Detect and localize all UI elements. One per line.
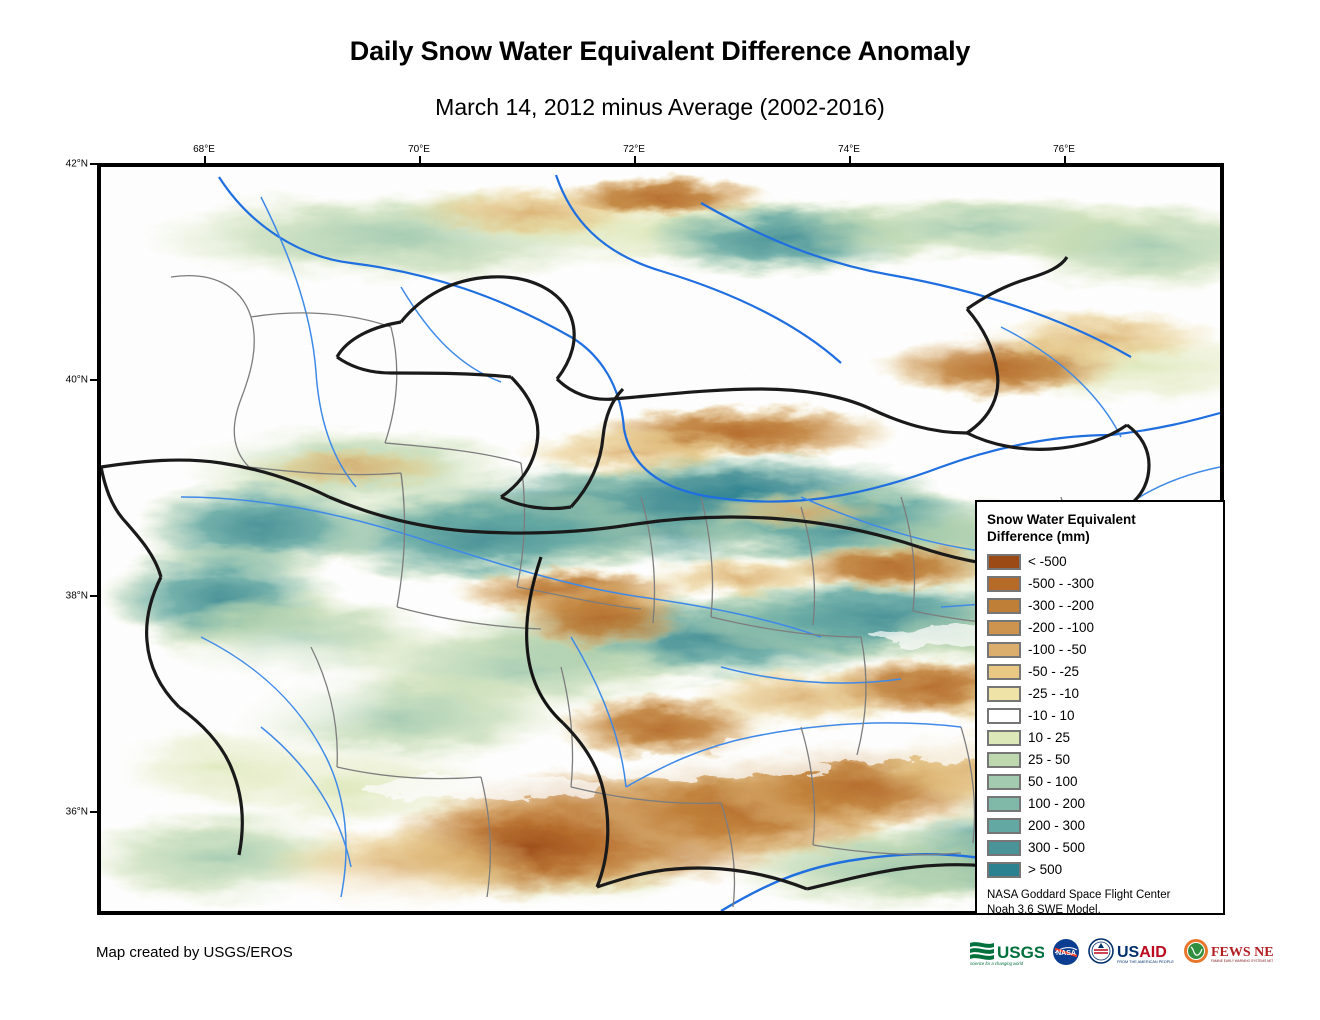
svg-text:FEWS NET: FEWS NET [1211,945,1273,960]
svg-text:USGS: USGS [997,943,1044,962]
lat-tick-38n [90,595,99,597]
legend-swatch [987,642,1021,658]
legend-label: 25 - 50 [1028,752,1070,767]
legend-class-row: -10 - 10 [987,705,1213,727]
legend-class-row: -300 - -200 [987,595,1213,617]
lon-tick-76e [1064,156,1066,165]
legend-class-row: 50 - 100 [987,771,1213,793]
svg-text:NASA: NASA [1056,950,1076,957]
legend-swatch [987,840,1021,856]
nasa-logo: NASA [1051,936,1081,968]
lon-tick-74e [849,156,851,165]
fewsnet-logo: FEWS NET FAMINE EARLY WARNING SYSTEMS NE… [1183,936,1273,968]
legend-swatch [987,730,1021,746]
legend-class-row: 25 - 50 [987,749,1213,771]
usaid-logo: USAID FROM THE AMERICAN PEOPLE [1088,936,1176,968]
legend-class-row: 10 - 25 [987,727,1213,749]
legend-swatch [987,686,1021,702]
legend-attribution: NASA Goddard Space Flight Center Noah 3.… [987,888,1213,919]
legend-swatch [987,862,1021,878]
legend-label: 200 - 300 [1028,818,1085,833]
legend-label: -10 - 10 [1028,708,1075,723]
svg-text:USAID: USAID [1117,944,1167,961]
svg-text:FROM THE AMERICAN PEOPLE: FROM THE AMERICAN PEOPLE [1117,960,1174,964]
legend-label: -100 - -50 [1028,642,1087,657]
legend-swatch [987,708,1021,724]
legend-label: 50 - 100 [1028,774,1078,789]
legend-class-row: -25 - -10 [987,683,1213,705]
legend-label: -200 - -100 [1028,620,1094,635]
legend-label: -500 - -300 [1028,576,1094,591]
legend-swatch [987,620,1021,636]
logo-strip: USGS science for a changing world NASA U… [968,932,1236,972]
legend-title: Snow Water Equivalent Difference (mm) [987,511,1213,546]
legend-class-row: 200 - 300 [987,815,1213,837]
legend-class-list: < -500-500 - -300-300 - -200-200 - -100-… [987,551,1213,881]
legend-swatch [987,598,1021,614]
lat-label-36n: 36°N [58,807,88,818]
lat-label-38n: 38°N [58,591,88,602]
legend-class-row: -50 - -25 [987,661,1213,683]
legend-label: -50 - -25 [1028,664,1079,679]
svg-text:science for a changing world: science for a changing world [970,961,1024,966]
legend-label: 100 - 200 [1028,796,1085,811]
map-credit: Map created by USGS/EROS [96,944,293,961]
lon-tick-70e [419,156,421,165]
lat-label-40n: 40°N [58,375,88,386]
svg-text:FAMINE EARLY WARNING SYSTEMS N: FAMINE EARLY WARNING SYSTEMS NETWORK [1211,959,1273,963]
legend-note-line2: Noah 3.6 SWE Model. [987,903,1213,919]
legend-label: 10 - 25 [1028,730,1070,745]
lon-label-72e: 72°E [623,144,645,155]
legend-swatch [987,576,1021,592]
lon-tick-68e [204,156,206,165]
legend-title-line2: Difference (mm) [987,529,1090,544]
legend-label: > 500 [1028,862,1062,877]
legend-label: -25 - -10 [1028,686,1079,701]
lon-label-76e: 76°E [1053,144,1075,155]
legend-class-row: -500 - -300 [987,573,1213,595]
lon-label-68e: 68°E [193,144,215,155]
page-subtitle: March 14, 2012 minus Average (2002-2016) [0,94,1320,121]
lon-label-74e: 74°E [838,144,860,155]
legend-swatch [987,774,1021,790]
map-legend: Snow Water Equivalent Difference (mm) < … [975,500,1225,915]
page-title: Daily Snow Water Equivalent Difference A… [0,36,1320,67]
legend-swatch [987,796,1021,812]
legend-class-row: > 500 [987,859,1213,881]
legend-swatch [987,752,1021,768]
lon-label-70e: 70°E [408,144,430,155]
legend-swatch [987,554,1021,570]
usgs-logo: USGS science for a changing world [968,936,1044,968]
legend-title-line1: Snow Water Equivalent [987,512,1136,527]
legend-class-row: -200 - -100 [987,617,1213,639]
legend-label: < -500 [1028,554,1067,569]
legend-label: -300 - -200 [1028,598,1094,613]
lat-tick-40n [90,379,99,381]
legend-label: 300 - 500 [1028,840,1085,855]
legend-class-row: < -500 [987,551,1213,573]
legend-class-row: 100 - 200 [987,793,1213,815]
lat-tick-42n [90,163,99,165]
legend-note-line1: NASA Goddard Space Flight Center [987,888,1213,904]
lon-tick-72e [634,156,636,165]
legend-class-row: 300 - 500 [987,837,1213,859]
legend-swatch [987,664,1021,680]
legend-swatch [987,818,1021,834]
lat-label-42n: 42°N [58,159,88,170]
lat-tick-36n [90,811,99,813]
legend-class-row: -100 - -50 [987,639,1213,661]
